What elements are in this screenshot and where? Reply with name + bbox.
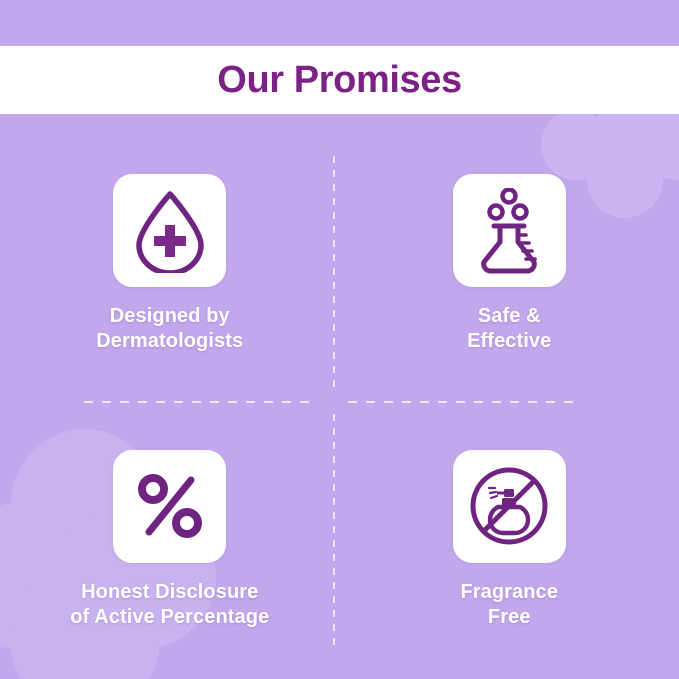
droplet-cross-icon <box>133 189 207 273</box>
no-fragrance-icon <box>468 465 550 547</box>
promise-item-fragrance-free: Fragrance Free <box>340 397 679 679</box>
flask-bubbles-icon <box>472 188 546 274</box>
promise-label: Fragrance Free <box>460 580 558 630</box>
page-title: Our Promises <box>217 59 461 102</box>
promise-icon-card <box>113 450 226 563</box>
promise-item-honest-disclosure: Honest Disclosure of Active Percentage <box>0 397 340 679</box>
promise-label: Designed by Dermatologists <box>96 304 243 354</box>
header-band: Our Promises <box>0 46 679 114</box>
percent-icon <box>134 470 206 542</box>
promise-icon-card <box>453 450 566 563</box>
promise-icon-card <box>113 174 226 287</box>
promise-item-dermatologists: Designed by Dermatologists <box>0 114 340 397</box>
promises-grid: Designed by Dermatologists <box>0 114 679 679</box>
promises-banner: Our Promises Designed by Dermatologists <box>0 0 679 679</box>
promise-item-safe-effective: Safe & Effective <box>340 114 679 397</box>
promise-label: Honest Disclosure of Active Percentage <box>70 580 269 630</box>
promise-icon-card <box>453 174 566 287</box>
promise-label: Safe & Effective <box>467 304 551 354</box>
